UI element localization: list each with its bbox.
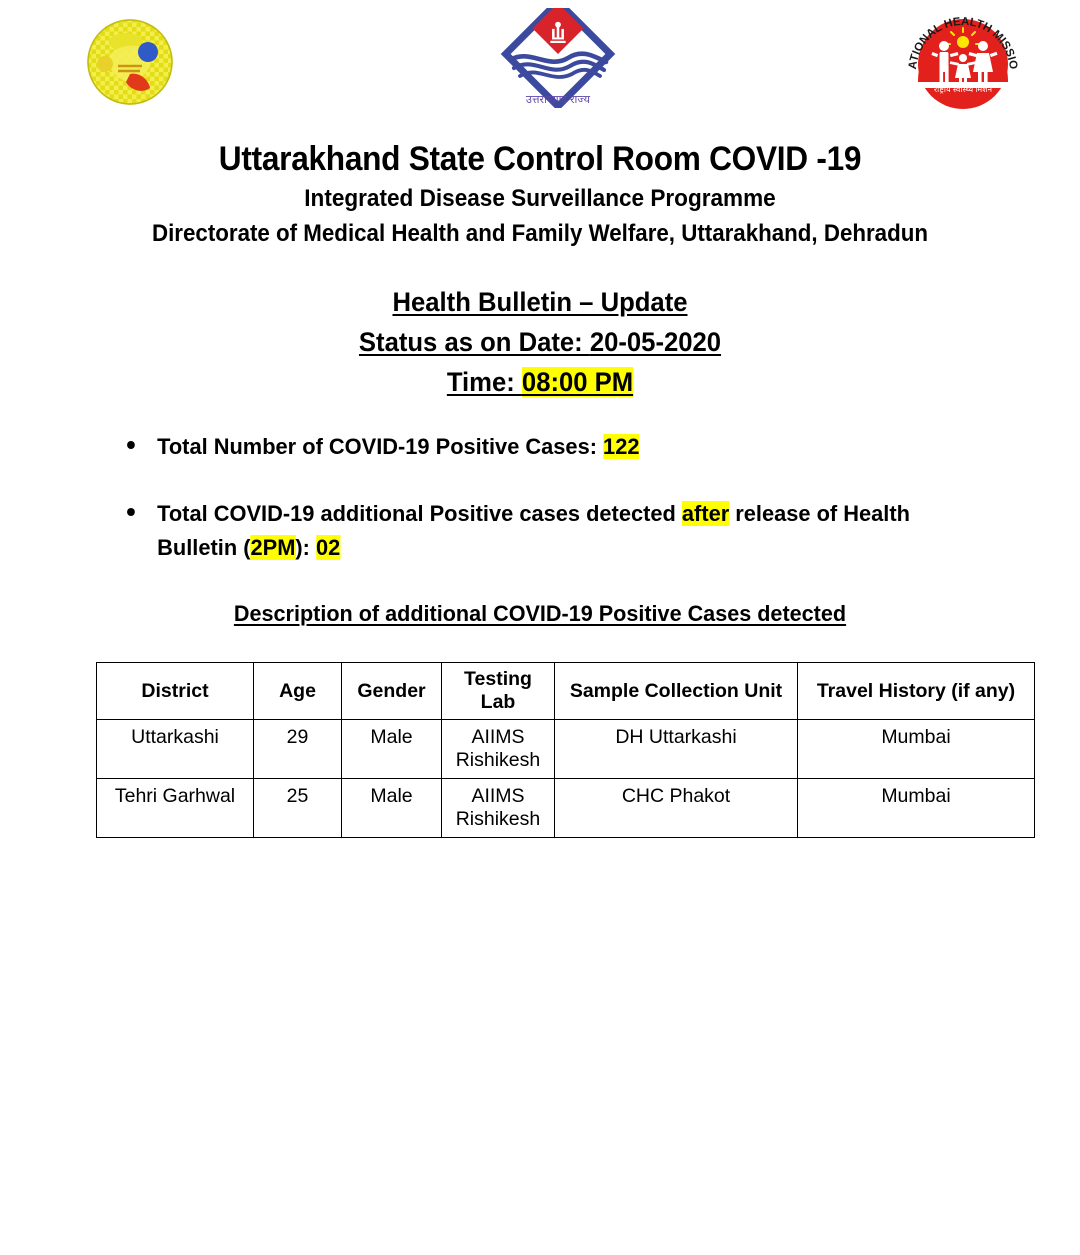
idsp-logo [78, 18, 182, 106]
cell-district: Uttarkashi [97, 720, 254, 779]
cell-age: 25 [254, 779, 342, 838]
column-header-travel-history: Travel History (if any) [798, 663, 1035, 720]
table-row: Uttarkashi 29 Male AIIMS Rishikesh DH Ut… [97, 720, 1035, 779]
national-health-mission-logo: NATIONAL HEALTH MISSION राष्ट्रीय स्वास्… [898, 6, 1028, 110]
time-value: 08:00 PM [522, 367, 633, 397]
bulletin-heading-block: Health Bulletin – Update Status as on Da… [0, 283, 1080, 403]
status-label: Status as on Date: [359, 327, 590, 357]
table-row: Tehri Garhwal 25 Male AIIMS Rishikesh CH… [97, 779, 1035, 838]
cell-travel-history: Mumbai [798, 779, 1035, 838]
uttarakhand-state-emblem: उत्तराखण्ड राज्य [496, 8, 620, 108]
cell-sample-collection-unit: CHC Phakot [555, 779, 798, 838]
bullet-dot-icon [127, 508, 135, 516]
table-caption: Description of additional COVID-19 Posit… [22, 601, 1059, 627]
additional-cases-highlight-after: after [682, 501, 729, 526]
logo-band: उत्तराखण्ड राज्य [0, 0, 1080, 118]
total-cases-label: Total Number of COVID-19 Positive Cases: [157, 434, 603, 459]
additional-cases-text-1: Total COVID-19 additional Positive cases… [157, 501, 682, 526]
additional-cases-value: 02 [316, 535, 340, 560]
table-header-row: District Age Gender Testing Lab Sample C… [97, 663, 1035, 720]
column-header-district: District [97, 663, 254, 720]
status-date: 20-05-2020 [590, 327, 721, 357]
column-header-sample-collection-unit: Sample Collection Unit [555, 663, 798, 720]
additional-cases-highlight-2pm: 2PM [251, 535, 296, 560]
cell-gender: Male [342, 779, 442, 838]
cell-district: Tehri Garhwal [97, 779, 254, 838]
uttarakhand-emblem-caption: उत्तराखण्ड राज्य [526, 94, 591, 106]
additional-cases-text-3: ): [295, 535, 316, 560]
column-header-age: Age [254, 663, 342, 720]
cell-age: 29 [254, 720, 342, 779]
cell-sample-collection-unit: DH Uttarkashi [555, 720, 798, 779]
column-header-gender: Gender [342, 663, 442, 720]
column-header-testing-lab: Testing Lab [442, 663, 555, 720]
page-subtitle-2: Directorate of Medical Health and Family… [38, 220, 1042, 249]
bulletin-time-line: Time: 08:00 PM [27, 363, 1053, 403]
document-header: Uttarakhand State Control Room COVID -19… [0, 140, 1080, 249]
total-cases-value: 122 [603, 434, 639, 459]
nhm-hindi-caption: राष्ट्रीय स्वास्थ्य मिशन [934, 84, 993, 94]
bullet-total-positive-cases: Total Number of COVID-19 Positive Cases:… [0, 430, 1048, 463]
page-title: Uttarakhand State Control Room COVID -19 [38, 140, 1042, 178]
bulletin-heading-text: Health Bulletin – Update [392, 287, 687, 317]
bullet-dot-icon [127, 441, 135, 449]
cell-gender: Male [342, 720, 442, 779]
cell-testing-lab: AIIMS Rishikesh [442, 779, 555, 838]
cell-testing-lab: AIIMS Rishikesh [442, 720, 555, 779]
bulletin-heading: Health Bulletin – Update [27, 283, 1053, 323]
additional-cases-table: District Age Gender Testing Lab Sample C… [96, 662, 1035, 838]
bullet-additional-cases: Total COVID-19 additional Positive cases… [0, 497, 1048, 564]
cell-travel-history: Mumbai [798, 720, 1035, 779]
time-label: Time: [447, 367, 522, 397]
bulletin-status-line: Status as on Date: 20-05-2020 [27, 323, 1053, 363]
summary-bullet-list: Total Number of COVID-19 Positive Cases:… [0, 430, 1080, 564]
page-subtitle-1: Integrated Disease Surveillance Programm… [32, 185, 1047, 214]
